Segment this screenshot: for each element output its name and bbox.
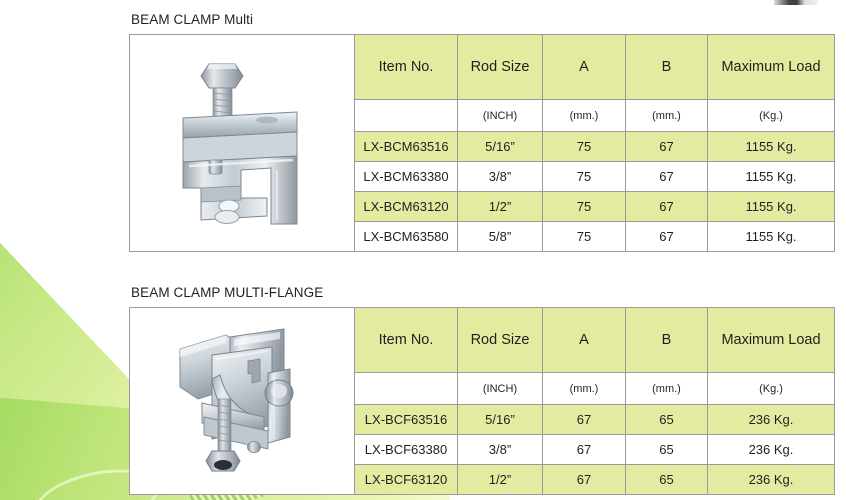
section-beam-clamp-multi: BEAM CLAMP Multi xyxy=(129,12,835,252)
column-header-a: A xyxy=(543,308,626,373)
unit-b: (mm.) xyxy=(626,100,708,132)
cell-a: 67 xyxy=(543,405,626,435)
product-photo-cell xyxy=(130,308,355,495)
spec-table: Item No. Rod Size A B Maximum Load (INCH… xyxy=(129,34,835,252)
spec-table: Item No. Rod Size A B Maximum Load (INCH… xyxy=(129,307,835,495)
cell-rod-size: 5/16” xyxy=(458,132,543,162)
unit-b: (mm.) xyxy=(626,373,708,405)
beam-clamp-multi-photo xyxy=(130,56,354,231)
column-header-rod-size: Rod Size xyxy=(458,308,543,373)
column-header-b: B xyxy=(626,35,708,100)
cell-b: 67 xyxy=(626,222,708,252)
cell-rod-size: 5/16” xyxy=(458,405,543,435)
cell-maximum-load: 1155 Kg. xyxy=(708,192,835,222)
unit-rod-size: (INCH) xyxy=(458,100,543,132)
cell-b: 65 xyxy=(626,435,708,465)
section-title: BEAM CLAMP Multi xyxy=(131,12,835,27)
cell-b: 67 xyxy=(626,162,708,192)
column-header-item-no: Item No. xyxy=(355,35,458,100)
cell-item-no: LX-BCM63516 xyxy=(355,132,458,162)
column-header-rod-size: Rod Size xyxy=(458,35,543,100)
cell-maximum-load: 1155 Kg. xyxy=(708,222,835,252)
cell-item-no: LX-BCF63120 xyxy=(355,465,458,495)
unit-item-no xyxy=(355,373,458,405)
beam-clamp-multi-flange-photo xyxy=(130,321,354,481)
unit-a: (mm.) xyxy=(543,100,626,132)
cell-rod-size: 1/2” xyxy=(458,192,543,222)
cell-a: 75 xyxy=(543,162,626,192)
column-header-b: B xyxy=(626,308,708,373)
cell-maximum-load: 236 Kg. xyxy=(708,405,835,435)
cell-a: 67 xyxy=(543,465,626,495)
section-beam-clamp-multi-flange: BEAM CLAMP MULTI-FLANGE xyxy=(129,285,835,495)
cell-maximum-load: 236 Kg. xyxy=(708,465,835,495)
cell-maximum-load: 1155 Kg. xyxy=(708,132,835,162)
top-right-artifact xyxy=(774,0,818,5)
column-header-a: A xyxy=(543,35,626,100)
product-photo-cell xyxy=(130,35,355,252)
green-wedge-left xyxy=(0,186,140,500)
unit-item-no xyxy=(355,100,458,132)
cell-b: 67 xyxy=(626,132,708,162)
column-header-maximum-load: Maximum Load xyxy=(708,308,835,373)
unit-maximum-load: (Kg.) xyxy=(708,373,835,405)
cell-a: 67 xyxy=(543,435,626,465)
cell-b: 65 xyxy=(626,405,708,435)
unit-maximum-load: (Kg.) xyxy=(708,100,835,132)
cell-item-no: LX-BCF63380 xyxy=(355,435,458,465)
cell-a: 75 xyxy=(543,192,626,222)
cell-item-no: LX-BCF63516 xyxy=(355,405,458,435)
cell-a: 75 xyxy=(543,132,626,162)
cell-item-no: LX-BCM63380 xyxy=(355,162,458,192)
section-title: BEAM CLAMP MULTI-FLANGE xyxy=(131,285,835,300)
column-header-maximum-load: Maximum Load xyxy=(708,35,835,100)
cell-b: 67 xyxy=(626,192,708,222)
cell-item-no: LX-BCM63580 xyxy=(355,222,458,252)
cell-rod-size: 3/8” xyxy=(458,162,543,192)
cell-rod-size: 1/2” xyxy=(458,465,543,495)
cell-maximum-load: 236 Kg. xyxy=(708,435,835,465)
cell-rod-size: 5/8” xyxy=(458,222,543,252)
cell-rod-size: 3/8” xyxy=(458,435,543,465)
cell-b: 65 xyxy=(626,465,708,495)
cell-a: 75 xyxy=(543,222,626,252)
cell-item-no: LX-BCM63120 xyxy=(355,192,458,222)
cell-maximum-load: 1155 Kg. xyxy=(708,162,835,192)
unit-a: (mm.) xyxy=(543,373,626,405)
unit-rod-size: (INCH) xyxy=(458,373,543,405)
column-header-item-no: Item No. xyxy=(355,308,458,373)
